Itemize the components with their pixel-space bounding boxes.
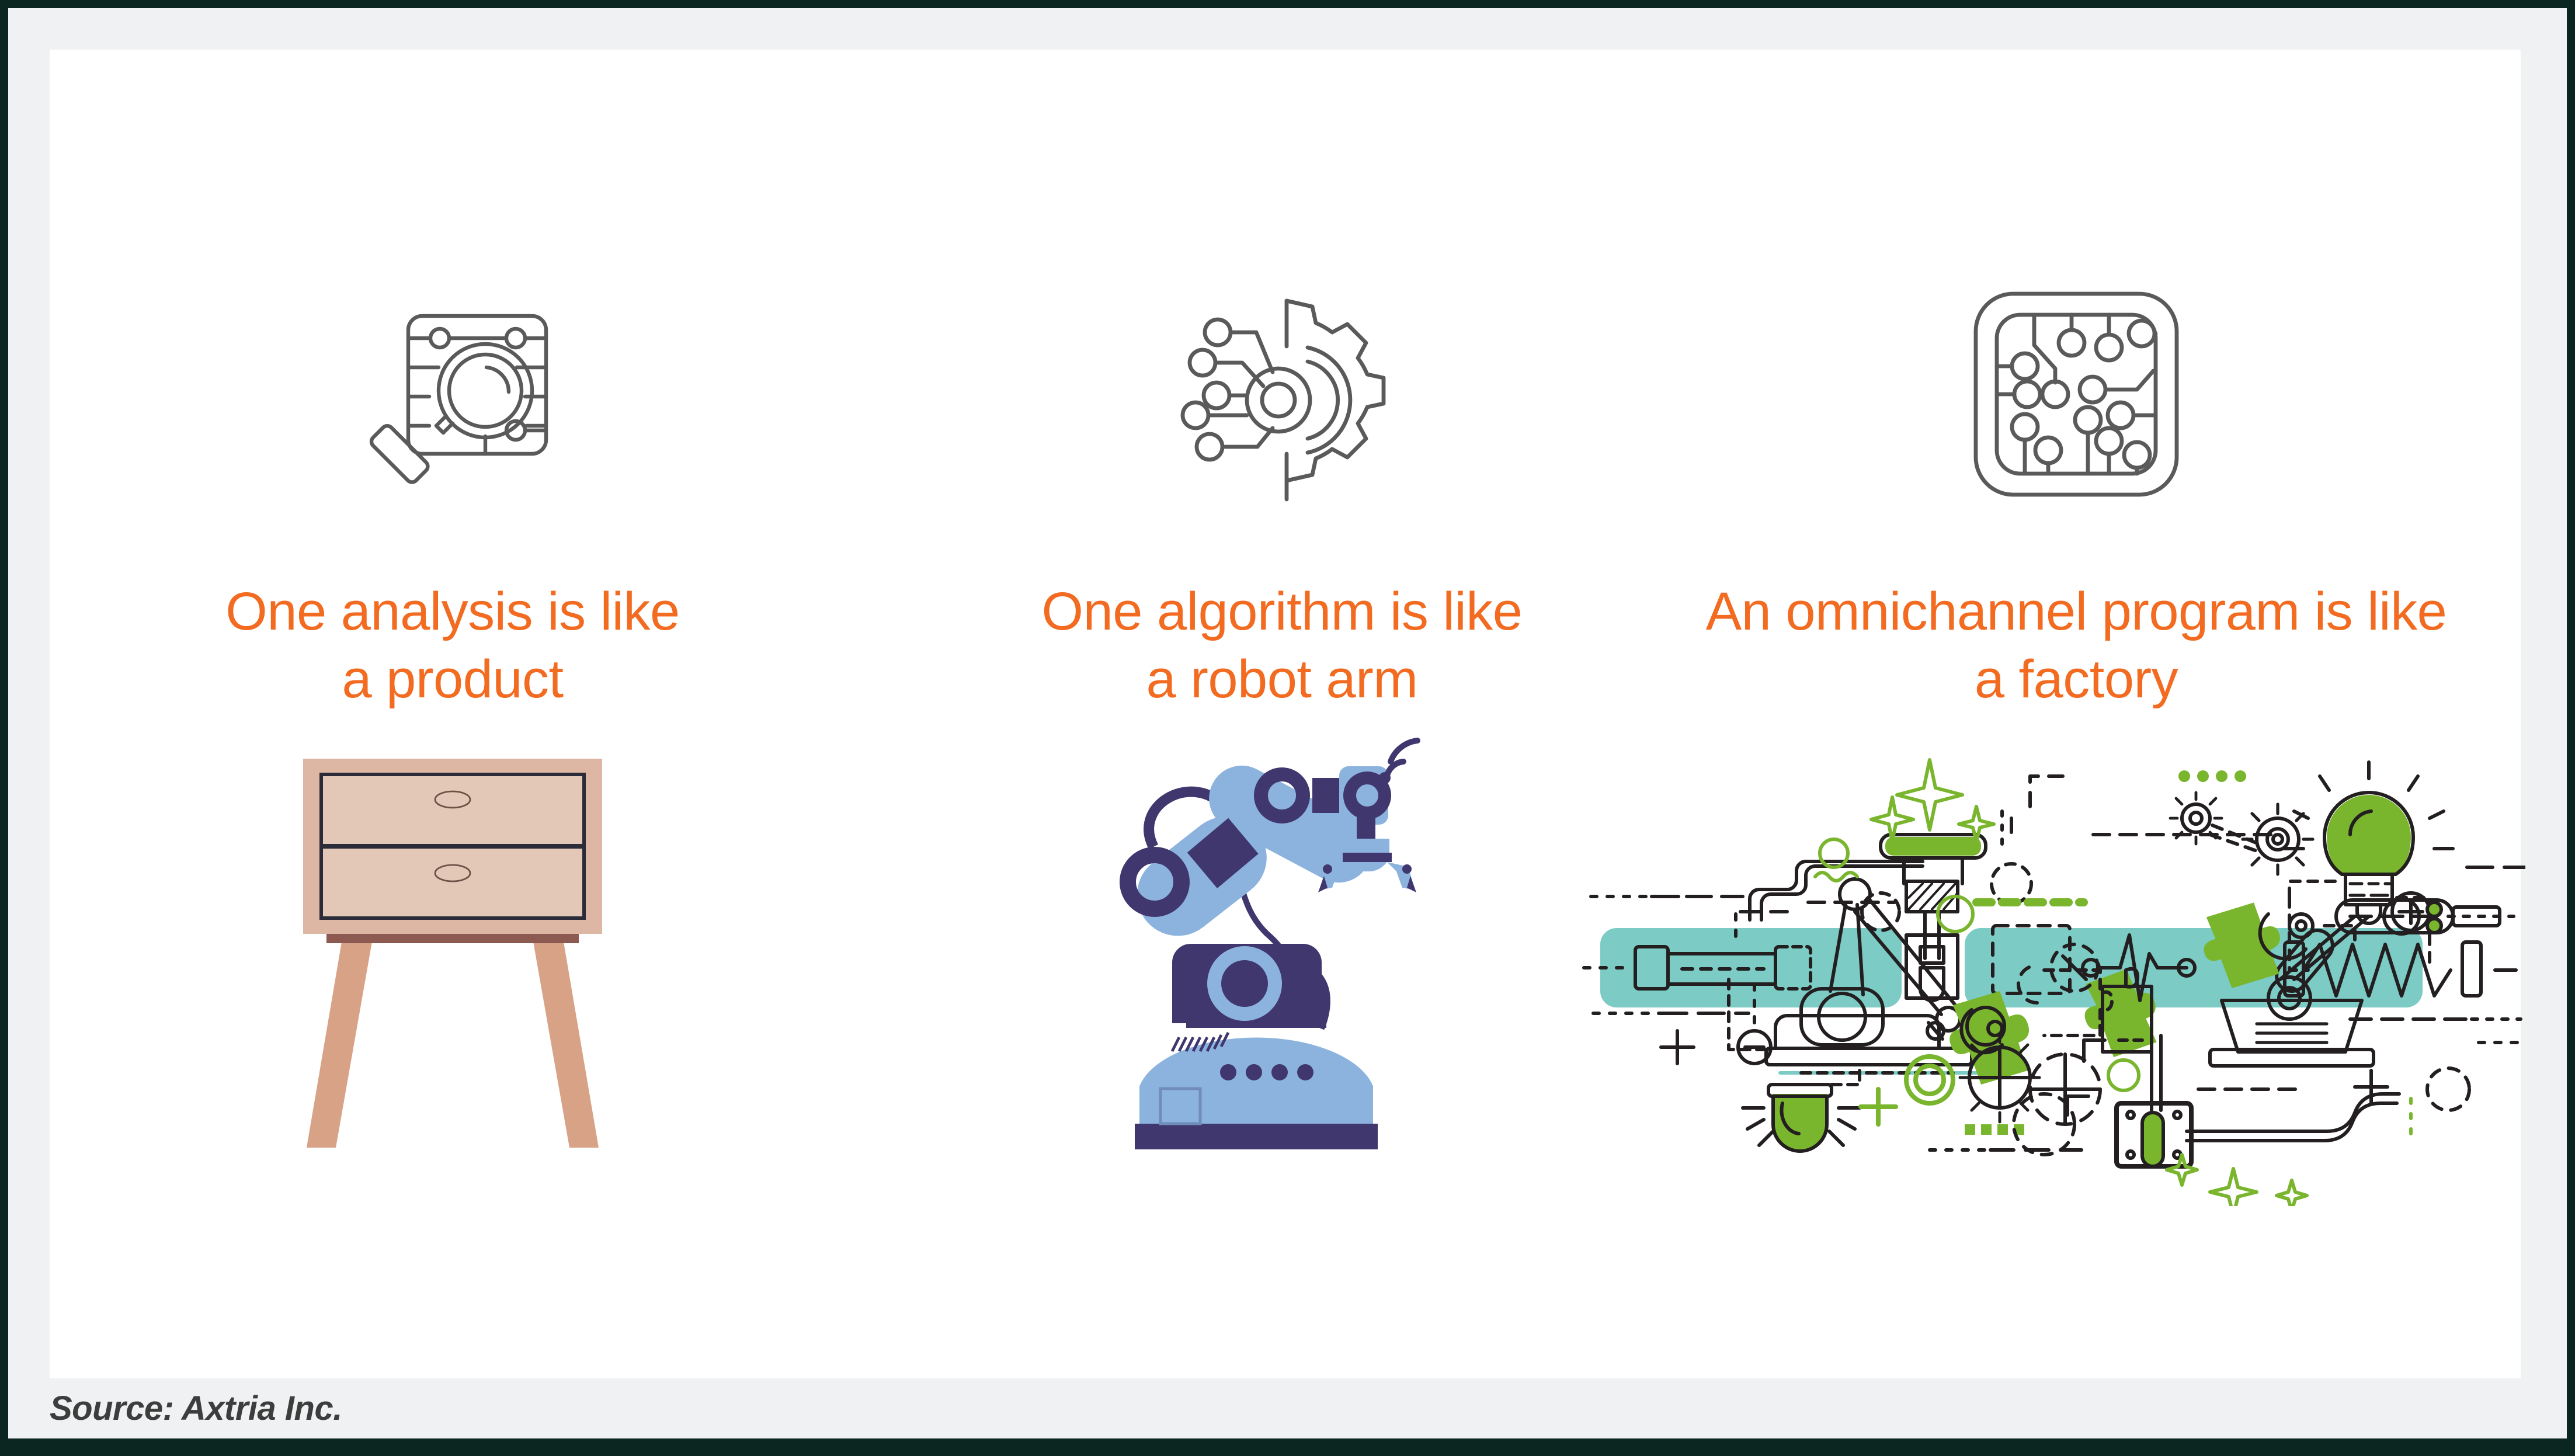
headline-algorithm: One algorithm is like a robot arm — [879, 578, 1685, 714]
headline-omnichannel: An omnichannel program is like a factory — [1673, 578, 2479, 714]
circuit-board-chip-icon — [1936, 254, 2216, 534]
column-analysis: One analysis is like a product — [50, 50, 856, 1378]
automated-factory-illustration — [1579, 739, 2525, 1206]
robotic-arm-illustration — [1107, 736, 1457, 1156]
gear-neural-network-icon — [1142, 260, 1422, 540]
source-label: Source: Axtria Inc. — [50, 1389, 342, 1428]
headline-analysis: One analysis is like a product — [50, 578, 856, 714]
slide-canvas: One analysis is like a product — [50, 50, 2521, 1378]
source-footer: Source: Axtria Inc. — [50, 1378, 2526, 1438]
slide-frame: One analysis is like a product — [8, 8, 2567, 1438]
column-omnichannel: An omnichannel program is like a factory — [1673, 50, 2479, 1378]
magnifier-data-panel-icon — [312, 260, 593, 540]
column-algorithm: One algorithm is like a robot arm — [879, 50, 1685, 1378]
nightstand-two-drawer-illustration — [289, 745, 616, 1153]
